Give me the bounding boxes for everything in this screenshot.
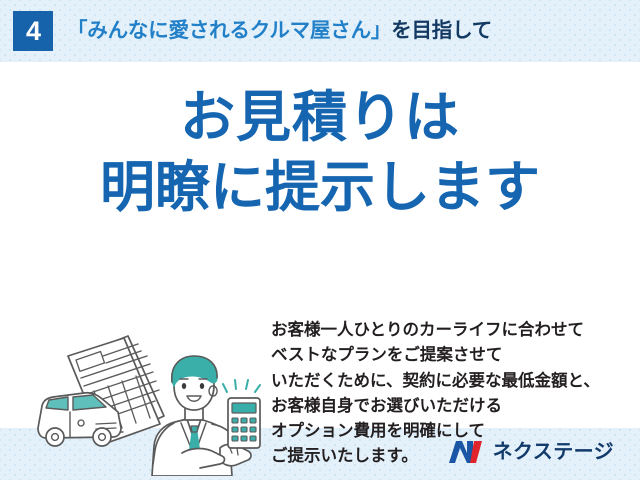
body-line-2: ベストなプランをご提案させて [271,343,631,368]
body-line-1: お客様一人ひとりのカーライフに合わせて [271,318,631,343]
body-line-4: お客様自身でお選びいただける [271,394,631,419]
page-title: お見積りは 明瞭に提示します [0,82,640,223]
header-title-quoted: 「みんなに愛されるクルマ屋さん」 [67,19,391,42]
header: 4 「みんなに愛されるクルマ屋さん」を目指して [0,0,640,62]
promo-slide: 4 「みんなに愛されるクルマ屋さん」を目指して お見積りは 明瞭に提示します お… [0,0,640,480]
nextage-n-logo-icon [447,439,485,465]
brand-logo: ネクステージ [447,437,614,467]
step-number-badge: 4 [13,11,53,51]
body-line-3: いただくために、契約に必要な最低金額と、 [271,369,631,394]
content-panel: お見積りは 明瞭に提示します お客様一人ひとりのカーライフに合わせて ベストなプ… [0,62,640,428]
page-title-line-1: お見積りは [0,82,640,152]
header-title-tail: を目指して [391,19,492,42]
header-title: 「みんなに愛されるクルマ屋さん」を目指して [67,21,492,42]
brand-name: ネクステージ [493,442,614,462]
footer: ネクステージ [0,428,640,480]
page-title-line-2: 明瞭に提示します [0,152,640,222]
